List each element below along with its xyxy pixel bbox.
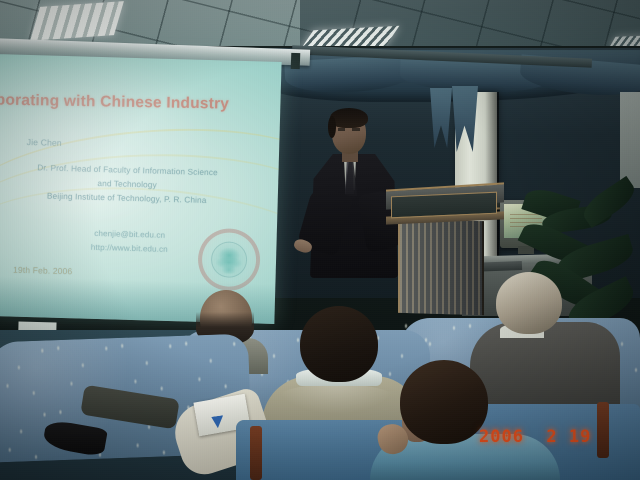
audience-center-man-head [300,306,378,382]
slide-title: laborating with Chinese Industry [0,91,282,114]
slide-date: 19th Feb. 2006 [0,261,186,279]
lectern [386,186,504,314]
slide-role-line-1: Dr. Prof. Head of Faculty of Information… [0,162,271,179]
slide-graphic-wave-2 [0,150,282,279]
university-seal-icon [197,228,261,292]
audience-grey-hair-head [496,272,562,334]
camera-datestamp: 2006 2 19 [479,427,591,447]
speaker-eyes [338,128,360,131]
speaker-hair-side [328,116,336,138]
slide-email: chenjie@bit.edu.cn [0,226,273,243]
screen-roller-end-cap [291,53,301,69]
lectern-top-face [391,192,497,219]
audience-center-man-shoulder-highlight [276,384,396,414]
slide-role-line-2: and Technology [0,176,270,193]
seat-wood-armrest-3 [597,402,609,458]
seal-inner-ring [211,241,248,278]
slide-website: http://www.bit.edu.cn [0,240,272,257]
projection-screen: laborating with Chinese Industry Jie Che… [0,54,282,324]
slide-speaker-name: Jie Chen [0,133,187,151]
ceiling-light-panel-left [30,1,124,41]
seal-tree-emblem [216,247,243,274]
audience-front-man-head [400,360,488,444]
window-strip [620,92,640,188]
lectern-front-shading [398,219,484,315]
slide-institution: Beijing Institute of Technology, P. R. C… [0,190,270,207]
seat-wood-armrest-1 [250,426,262,480]
slide-graphic-wave-1 [0,116,282,264]
lecture-photo: laborating with Chinese Industry Jie Che… [0,0,640,480]
